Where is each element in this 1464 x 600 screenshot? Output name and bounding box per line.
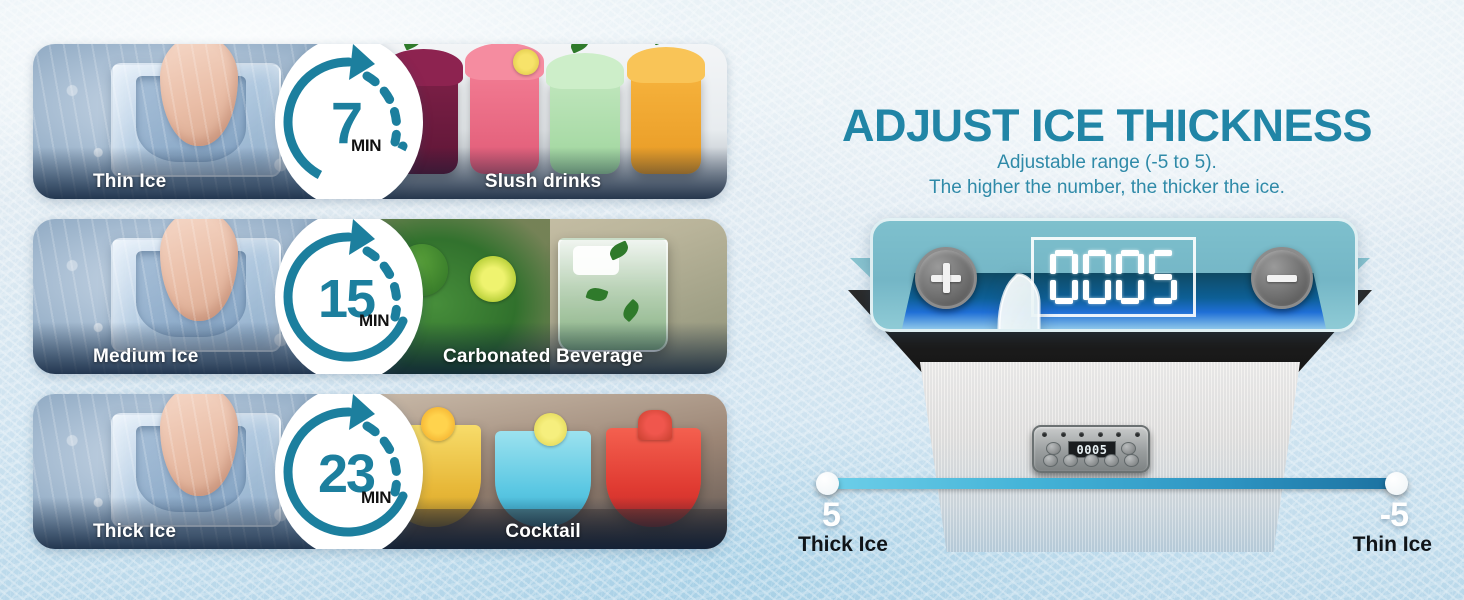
- subtitle-line-2: The higher the number, the thicker the i…: [760, 175, 1454, 200]
- feature-cards-list: Thin Ice S: [33, 44, 727, 569]
- light-button[interactable]: [1104, 454, 1119, 467]
- plus-icon: [931, 263, 961, 293]
- slider-right-label: Thin Ice: [1353, 533, 1432, 557]
- circular-timer-arrow-icon: 15 MIN: [275, 219, 423, 374]
- slider-handle-thick[interactable]: [816, 472, 839, 495]
- power-button[interactable]: [1043, 454, 1058, 467]
- list-item[interactable]: Medium Ice Carbonated Beverage: [33, 219, 727, 374]
- pointing-hand-cursor-icon: [969, 273, 1099, 332]
- led-indicator: [1061, 432, 1066, 437]
- minus-button[interactable]: [1251, 247, 1313, 309]
- display-value-text: 0005: [1113, 277, 1114, 278]
- timer-button[interactable]: [1124, 454, 1139, 467]
- list-item[interactable]: Thin Ice S: [33, 44, 727, 199]
- subtitle-line-1: Adjustable range (-5 to 5).: [760, 150, 1454, 175]
- slider-track[interactable]: [820, 478, 1404, 489]
- led-indicator: [1098, 432, 1103, 437]
- seven-segment-digit: [1116, 250, 1144, 304]
- slider-handle-thin[interactable]: [1385, 472, 1408, 495]
- slider-left-value: 5: [822, 496, 840, 535]
- function-buttons: [1043, 454, 1139, 467]
- timer-minutes-unit: MIN: [351, 136, 381, 156]
- seven-segment-digit: [1149, 250, 1177, 304]
- slider-left-label: Thick Ice: [798, 533, 888, 557]
- circular-timer-arrow-icon: 23 MIN: [275, 394, 423, 549]
- page-title: ADJUST ICE THICKNESS: [760, 100, 1454, 152]
- ice-button[interactable]: [1063, 454, 1078, 467]
- minus-icon: [1267, 263, 1297, 293]
- clean-button[interactable]: [1084, 454, 1099, 467]
- subtitle: Adjustable range (-5 to 5). The higher t…: [760, 150, 1454, 200]
- led-indicator: [1079, 432, 1084, 437]
- led-indicator: [1042, 432, 1047, 437]
- machine-control-panel[interactable]: 0005: [1032, 425, 1150, 473]
- lime-slice: [470, 256, 516, 302]
- led-indicator: [1135, 432, 1140, 437]
- finger-shape: [160, 219, 238, 321]
- timer-minutes-unit: MIN: [361, 488, 391, 508]
- thickness-slider[interactable]: [820, 478, 1404, 490]
- adjust-thickness-panel: ADJUST ICE THICKNESS Adjustable range (-…: [760, 0, 1464, 600]
- finger-shape: [160, 394, 238, 496]
- list-item[interactable]: Thick Ice Cocktail: [33, 394, 727, 549]
- indicator-leds: [1042, 432, 1140, 437]
- slider-right-value: -5: [1380, 496, 1408, 535]
- circular-timer-arrow-icon: 7 MIN: [275, 44, 423, 199]
- finger-shape: [160, 44, 238, 146]
- timer-minutes-unit: MIN: [359, 311, 389, 331]
- plus-button[interactable]: [915, 247, 977, 309]
- led-indicator: [1116, 432, 1121, 437]
- control-panel-zoom-callout: 0005: [870, 218, 1358, 332]
